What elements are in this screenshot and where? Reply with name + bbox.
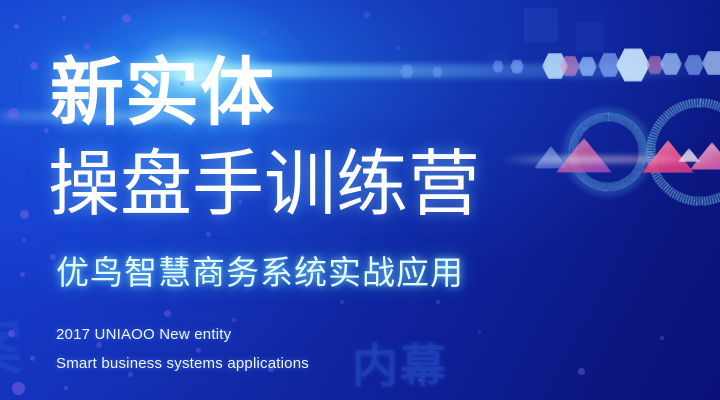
english-line-2: Smart business systems applications — [56, 355, 309, 372]
english-line-1: 2017 UNIAOO New entity — [56, 326, 231, 343]
headline-line-2: 操盘手训练营 — [48, 148, 480, 220]
headline-line-1: 新实体 — [50, 56, 275, 130]
subtitle-chinese: 优鸟智慧商务系统实战应用 — [56, 256, 464, 289]
poster-copy: 新实体 操盘手训练营 优鸟智慧商务系统实战应用 2017 UNIAOO New … — [0, 0, 720, 400]
poster-banner: 案 内幕 新实体 操盘手训练营 优鸟智慧商务系统实战应用 2017 UNIAOO… — [0, 0, 720, 400]
